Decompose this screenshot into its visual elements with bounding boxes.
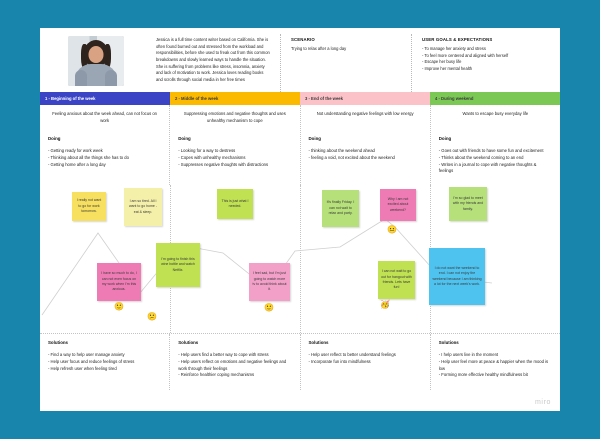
stage-header-2[interactable]: 2 - Middle of the week bbox=[170, 92, 300, 105]
doing-item: - Thinking about all the things she has … bbox=[48, 155, 161, 162]
photo-arm-right bbox=[105, 70, 117, 86]
emoji-neutral-1: 🙂 bbox=[114, 303, 124, 311]
photo-face bbox=[89, 46, 104, 63]
stage-header-3[interactable]: 3 - End of the week bbox=[300, 92, 430, 105]
solutions-label-2: Solutions bbox=[178, 340, 291, 345]
goals-title: USER GOALS & EXPECTATIONS bbox=[422, 37, 554, 42]
sticky-note-11[interactable]: I do not want the weekend to end. I can … bbox=[429, 248, 485, 305]
stage-header-1[interactable]: 1 - Beginning of the week bbox=[40, 92, 170, 105]
sticky-note-5[interactable]: This is just what I needed. bbox=[217, 189, 253, 219]
solution-item: - Help refresh user when feeling tired bbox=[48, 366, 161, 373]
solutions-column-3: Solutions - Help user reflect to better … bbox=[301, 334, 431, 390]
doing-label-2: Doing bbox=[178, 136, 291, 141]
solution-item: - Help users find a better way to cope w… bbox=[178, 352, 291, 359]
stage-bar: 1 - Beginning of the week 2 - Middle of … bbox=[40, 92, 560, 105]
solution-item: - Help users reflect on emotions and neg… bbox=[178, 359, 291, 373]
doing-item: - Getting home after a long day bbox=[48, 162, 161, 169]
sticky-note-10[interactable]: I'm so glad to meet with my friends and … bbox=[449, 187, 487, 221]
solution-item: - Help user reflect to better understand… bbox=[309, 352, 422, 359]
goals-list: - To manage her anxiety and stress - To … bbox=[422, 46, 554, 73]
sticky-note-8[interactable]: Why I am not excited about weekend? bbox=[380, 189, 416, 221]
goal-item: - To manage her anxiety and stress bbox=[422, 46, 554, 53]
scenario-title: SCENARIO bbox=[291, 37, 403, 42]
persona-header-row: Jessica is a full time content writer ba… bbox=[40, 28, 560, 92]
emoji-slight-smile-1: 😕 bbox=[147, 313, 157, 321]
solutions-column-4: Solutions - I help users live in the mom… bbox=[431, 334, 560, 390]
solutions-label-4: Solutions bbox=[439, 340, 552, 345]
scenario-cell: SCENARIO Trying to relax after a long da… bbox=[281, 34, 412, 92]
goal-item: - To feel more centered and aligned with… bbox=[422, 53, 554, 60]
solution-item: - Find a way to help user manage anxiety bbox=[48, 352, 161, 359]
doing-item: - Goes out with friends to have some fun… bbox=[439, 148, 552, 155]
doing-item: - Thinks about the weekend coming to an … bbox=[439, 155, 552, 162]
sticky-note-canvas: I really not want to go for work tomorro… bbox=[40, 185, 560, 333]
doing-item: - Copes with unhealthy mechanisms bbox=[178, 155, 291, 162]
sticky-note-1[interactable]: I really not want to go for work tomorro… bbox=[72, 192, 106, 221]
journey-map-board: Jessica is a full time content writer ba… bbox=[40, 28, 560, 411]
solutions-label-3: Solutions bbox=[309, 340, 422, 345]
scenario-text: Trying to relax after a long day bbox=[291, 46, 403, 53]
column-1: Feeling anxious about the week ahead, ca… bbox=[40, 105, 170, 185]
doing-row: Feeling anxious about the week ahead, ca… bbox=[40, 105, 560, 185]
emoji-neutral-2: 🙂 bbox=[264, 304, 274, 312]
doing-item: - thinking about the weekend ahead bbox=[309, 148, 422, 155]
column-4: Wants to escape busy everyday life Doing… bbox=[431, 105, 560, 185]
column-3: Not understanding negative feelings with… bbox=[301, 105, 431, 185]
column-2: Suppressing emotions and negative though… bbox=[170, 105, 300, 185]
feeling-text-1: Feeling anxious about the week ahead, ca… bbox=[48, 111, 161, 127]
sticky-note-6[interactable]: I feel sad, but I'm just going to watch … bbox=[249, 263, 290, 301]
doing-item: - Suppresses negative thoughts with dist… bbox=[178, 162, 291, 169]
feeling-text-4: Wants to escape busy everyday life bbox=[439, 111, 552, 127]
emoji-confused-1: 😐 bbox=[387, 226, 397, 234]
doing-item: - Looking for a way to destress bbox=[178, 148, 291, 155]
goal-item: - Escape her busy life bbox=[422, 59, 554, 66]
doing-label-3: Doing bbox=[309, 136, 422, 141]
goal-item: - Improve her mental health bbox=[422, 66, 554, 73]
persona-bio-text: Jessica is a full time content writer ba… bbox=[156, 37, 270, 83]
emoji-party-1: 🥳 bbox=[380, 301, 390, 309]
sticky-note-3[interactable]: I have so much to do, I can not even foc… bbox=[97, 263, 141, 301]
sticky-note-7[interactable]: It's finally Friday. I can not wait to r… bbox=[322, 190, 359, 227]
doing-item: - Getting ready for work week bbox=[48, 148, 161, 155]
sticky-note-9[interactable]: I can not wait to go out for hangout wit… bbox=[378, 261, 415, 299]
doing-item: - Writes in a journal to cope with negat… bbox=[439, 162, 552, 176]
doing-label-1: Doing bbox=[48, 136, 161, 141]
solutions-label-1: Solutions bbox=[48, 340, 161, 345]
doing-item: - feeling a void, not excited about the … bbox=[309, 155, 422, 162]
goals-cell: USER GOALS & EXPECTATIONS - To manage he… bbox=[412, 34, 560, 92]
doing-label-4: Doing bbox=[439, 136, 552, 141]
sticky-note-4[interactable]: I'm going to finish this wine bottle and… bbox=[156, 243, 200, 287]
persona-photo bbox=[68, 36, 124, 86]
solution-item: - Help user focus and reduce feelings of… bbox=[48, 359, 161, 366]
solutions-row: Solutions - Find a way to help user mana… bbox=[40, 333, 560, 390]
feeling-text-3: Not understanding negative feelings with… bbox=[309, 111, 422, 127]
solution-item: - Forming more effective healthy mindful… bbox=[439, 372, 552, 379]
solution-item: - Help user feel more at peace & happier… bbox=[439, 359, 552, 373]
persona-bio-cell: Jessica is a full time content writer ba… bbox=[152, 34, 281, 92]
solutions-column-2: Solutions - Help users find a better way… bbox=[170, 334, 300, 390]
feeling-text-2: Suppressing emotions and negative though… bbox=[178, 111, 291, 127]
solution-item: - Reinforce healthier coping mechanisms bbox=[178, 372, 291, 379]
sticky-note-2[interactable]: I am so tired. All I want to go home - e… bbox=[124, 188, 162, 226]
persona-photo-cell bbox=[40, 34, 152, 92]
solution-item: - I help users live in the moment bbox=[439, 352, 552, 359]
photo-arm-left bbox=[75, 70, 87, 86]
miro-watermark: miro bbox=[535, 399, 551, 406]
solution-item: - Incorporate fun into mindfulness bbox=[309, 359, 422, 366]
solutions-column-1: Solutions - Find a way to help user mana… bbox=[40, 334, 170, 390]
stage-header-4[interactable]: 4 - During weekend bbox=[430, 92, 560, 105]
